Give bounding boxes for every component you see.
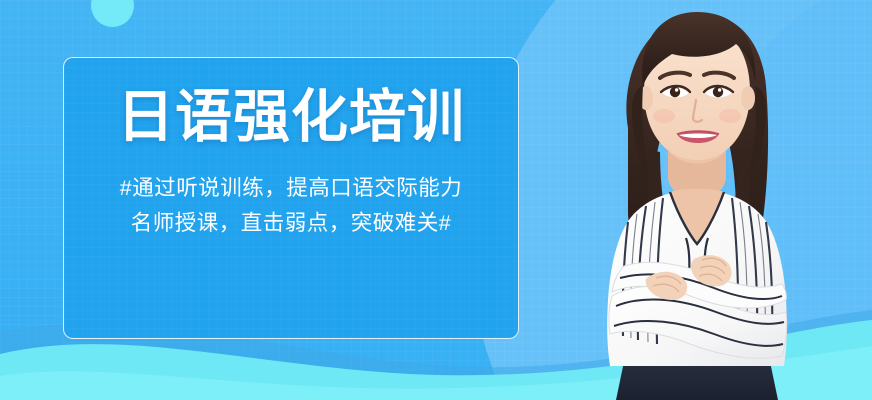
subtitle-line-2: 名师授课，直击弱点，突破难关# [82,206,500,241]
subtitle-line-1: #通过听说训练，提高口语交际能力 [82,171,500,206]
subtitle-block: #通过听说训练，提高口语交际能力 名师授课，直击弱点，突破难关# [82,171,500,241]
banner-root: 日语强化培训 #通过听说训练，提高口语交际能力 名师授课，直击弱点，突破难关# [0,0,872,400]
content-card: 日语强化培训 #通过听说训练，提高口语交际能力 名师授课，直击弱点，突破难关# [63,57,519,339]
page-title: 日语强化培训 [64,88,518,148]
